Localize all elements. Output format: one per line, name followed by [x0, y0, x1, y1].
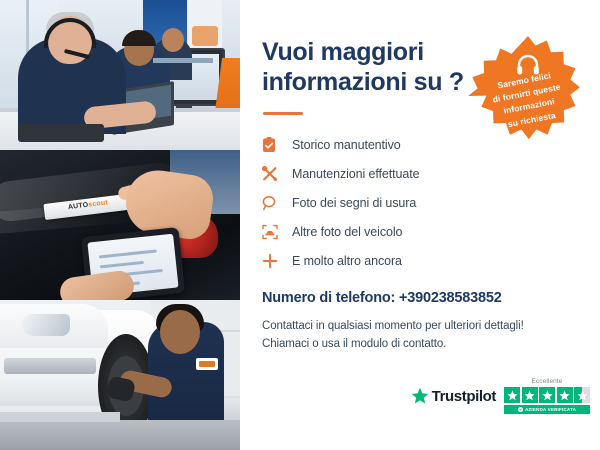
star-4 — [557, 387, 573, 403]
feature-item-storico: Storico manutentivo — [262, 130, 512, 159]
verified-label: AZIENDA VERIFICATA — [525, 407, 576, 412]
plus-icon — [262, 253, 288, 269]
contact-subtext: Contattaci in qualsiasi momento per ulte… — [262, 318, 562, 354]
trustpilot-logo: Trustpilot — [411, 387, 496, 405]
title-line-1: Vuoi maggiori — [262, 38, 424, 66]
wheel-service-photo — [0, 300, 240, 450]
feature-list: Storico manutentivo Manutenzioni effettu… — [262, 130, 512, 275]
feature-item-manutenzioni: Manutenzioni effettuate — [262, 159, 512, 188]
feature-label: Manutenzioni effettuate — [288, 167, 419, 181]
advert-card: AUTOscout Vuoi maggiori informazion — [0, 0, 600, 450]
star-3 — [539, 387, 555, 403]
feature-label: Storico manutentivo — [288, 138, 401, 152]
feature-label: Foto dei segni di usura — [288, 196, 416, 210]
trustpilot-rating: Eccellente AZIENDA VERIFICATA — [504, 378, 590, 414]
star-5-partial — [574, 387, 590, 403]
trustpilot-wordmark: Trustpilot — [432, 388, 496, 405]
title-divider — [263, 112, 303, 115]
car-frame-icon — [262, 224, 288, 240]
feature-label: E molto altro ancora — [288, 254, 402, 268]
verified-badge: AZIENDA VERIFICATA — [504, 405, 590, 414]
tools-cross-icon — [262, 166, 288, 182]
star-2 — [522, 387, 538, 403]
trustpilot-star-icon — [411, 387, 429, 405]
star-1 — [504, 387, 520, 403]
clipboard-check-icon — [262, 137, 288, 153]
feature-label: Altre foto del veicolo — [288, 225, 402, 239]
check-circle-icon — [518, 407, 523, 412]
content-panel: Vuoi maggiori informazioni su ? Saremo f… — [240, 0, 600, 450]
contact-subtext-line-1: Contattaci in qualsiasi momento per ulte… — [262, 320, 524, 332]
contact-subtext-line-2: Chiamaci o usa il modulo di contatto. — [262, 338, 446, 350]
trustpilot-widget[interactable]: Trustpilot Eccellente AZIENDA VERIFICATA — [411, 378, 590, 414]
rating-label: Eccellente — [532, 378, 563, 385]
call-center-photo — [0, 0, 240, 150]
feature-item-altre-foto: Altre foto del veicolo — [262, 217, 512, 246]
photo-column: AUTOscout — [0, 0, 240, 450]
feature-item-altro: E molto altro ancora — [262, 246, 512, 275]
star-rating — [504, 387, 590, 403]
feature-item-foto-usura: Foto dei segni di usura — [262, 188, 512, 217]
phone-number[interactable]: Numero di telefono: +390238583852 — [262, 290, 502, 306]
magnifier-icon — [262, 195, 288, 211]
title-line-2: informazioni su ? — [262, 68, 464, 96]
inspection-photo: AUTOscout — [0, 150, 240, 300]
page-title: Vuoi maggiori informazioni su ? — [262, 38, 492, 97]
